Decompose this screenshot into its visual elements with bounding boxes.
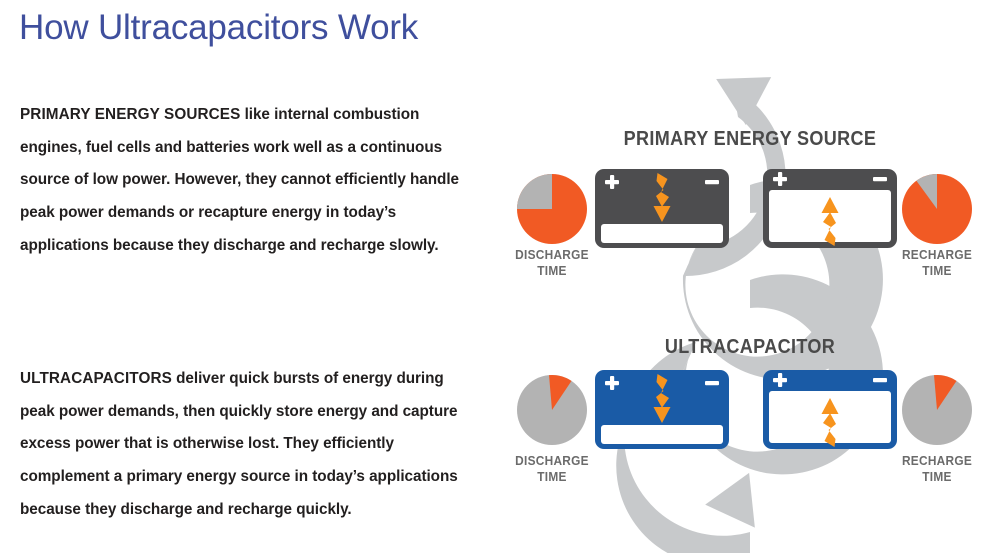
pie-label-line-2: TIME — [888, 263, 987, 279]
section-ultracapacitor — [517, 370, 972, 449]
minus-terminal-icon — [873, 378, 887, 382]
battery-ultracapacitor-discharging — [595, 370, 729, 449]
pie-label-discharge-time-primary: DISCHARGE TIME — [503, 247, 602, 279]
paragraph-body: like internal combustion engines, fuel c… — [20, 106, 459, 253]
paragraph-lead-in: ULTRACAPACITORS — [20, 370, 172, 387]
section-title-ultracapacitor: ULTRACAPACITOR — [583, 335, 917, 359]
paragraph-ultracapacitors: ULTRACAPACITORS deliver quick bursts of … — [20, 363, 482, 526]
pie-label-recharge-time-ultracapacitor: RECHARGE TIME — [888, 453, 987, 485]
pie-label-line-2: TIME — [503, 263, 602, 279]
pie-label-line-1: DISCHARGE — [503, 453, 602, 469]
paragraph-lead-in: PRIMARY ENERGY SOURCES — [20, 106, 240, 123]
pie-label-line-1: RECHARGE — [888, 453, 987, 469]
minus-terminal-icon — [705, 180, 719, 184]
pie-label-recharge-time-primary: RECHARGE TIME — [888, 247, 987, 279]
paragraph-body: deliver quick bursts of energy during pe… — [20, 370, 458, 517]
pie-label-discharge-time-ultracapacitor: DISCHARGE TIME — [503, 453, 602, 485]
minus-terminal-icon — [873, 177, 887, 181]
battery-primary-discharging — [595, 169, 729, 248]
pie-recharge-primary — [902, 174, 972, 244]
pie-discharge-ultracapacitor — [517, 375, 587, 445]
pie-label-line-1: RECHARGE — [888, 247, 987, 263]
pie-recharge-ultracapacitor — [902, 375, 972, 445]
battery-primary-recharging — [763, 169, 897, 248]
pie-label-line-2: TIME — [503, 469, 602, 485]
page-title: How Ultracapacitors Work — [19, 8, 418, 48]
paragraph-primary-energy-sources: PRIMARY ENERGY SOURCES like internal com… — [20, 99, 482, 262]
article-text-column: How Ultracapacitors Work PRIMARY ENERGY … — [0, 0, 505, 553]
battery-ultracapacitor-recharging — [763, 370, 897, 449]
pie-label-line-1: DISCHARGE — [503, 247, 602, 263]
minus-terminal-icon — [705, 381, 719, 385]
pie-label-line-2: TIME — [888, 469, 987, 485]
pie-discharge-primary — [517, 174, 587, 244]
section-title-primary-energy-source: PRIMARY ENERGY SOURCE — [583, 127, 917, 151]
